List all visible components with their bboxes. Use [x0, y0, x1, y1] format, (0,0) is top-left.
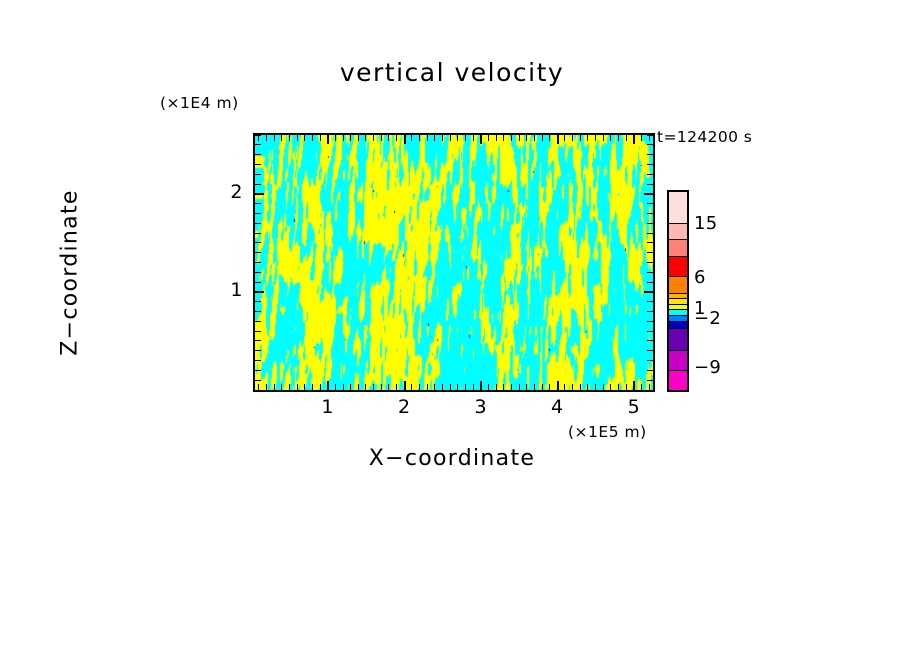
x-tick-label: 1 — [308, 396, 348, 418]
x-tick — [327, 135, 329, 144]
y-tick — [255, 252, 261, 253]
x-tick — [343, 135, 344, 141]
x-tick — [519, 135, 520, 141]
x-tick — [603, 384, 604, 390]
x-tick — [411, 135, 412, 141]
x-tick — [549, 384, 550, 390]
colorbar-band — [669, 192, 687, 224]
x-tick — [289, 135, 290, 141]
y-tick — [647, 144, 653, 145]
x-tick — [587, 135, 588, 141]
x-tick — [649, 384, 650, 390]
y-tick — [255, 272, 261, 273]
page-title: vertical velocity — [0, 58, 904, 87]
x-tick — [327, 381, 329, 390]
x-tick — [519, 384, 520, 390]
x-tick — [626, 384, 627, 390]
x-tick — [419, 135, 420, 141]
colorbar-tick-label: 15 — [694, 213, 718, 234]
colorbar-band — [669, 240, 687, 257]
y-tick — [644, 193, 653, 195]
y-tick-label: 1 — [203, 279, 243, 301]
x-tick — [258, 384, 259, 390]
colorbar-band — [669, 371, 687, 390]
x-tick — [450, 135, 451, 141]
y-tick — [647, 135, 653, 136]
y-tick — [255, 282, 261, 283]
y-tick — [647, 272, 653, 273]
x-tick — [542, 384, 543, 390]
x-tick — [304, 384, 305, 390]
x-tick — [404, 381, 406, 390]
x-tick — [572, 384, 573, 390]
x-tick — [457, 135, 458, 141]
x-tick — [312, 384, 313, 390]
x-tick — [358, 135, 359, 141]
y-tick — [255, 262, 261, 263]
x-tick — [365, 135, 366, 141]
x-tick — [381, 384, 382, 390]
x-tick — [480, 135, 482, 144]
x-tick — [595, 135, 596, 141]
y-tick — [647, 370, 653, 371]
x-tick — [312, 135, 313, 141]
y-tick — [647, 233, 653, 234]
x-tick-label: 4 — [537, 396, 577, 418]
x-tick — [480, 381, 482, 390]
vertical-velocity-field — [255, 135, 653, 390]
x-tick — [503, 135, 504, 141]
y-tick — [255, 350, 261, 351]
y-tick — [255, 233, 261, 234]
x-tick — [274, 384, 275, 390]
x-tick — [388, 384, 389, 390]
z-axis-units-label: (×1E4 m) — [160, 94, 239, 112]
colorbar-tick-label: 6 — [694, 267, 706, 288]
x-tick — [350, 384, 351, 390]
y-tick — [255, 213, 261, 214]
x-tick — [618, 384, 619, 390]
x-tick — [564, 384, 565, 390]
y-tick — [647, 340, 653, 341]
x-tick — [350, 135, 351, 141]
x-tick — [381, 135, 382, 141]
x-axis-units-label: (×1E5 m) — [568, 423, 647, 441]
x-tick — [534, 384, 535, 390]
colorbar-band — [669, 351, 687, 370]
y-tick — [255, 380, 261, 381]
x-tick — [496, 384, 497, 390]
colorbar-band — [669, 277, 687, 294]
y-tick — [647, 174, 653, 175]
x-tick — [297, 135, 298, 141]
x-tick — [457, 384, 458, 390]
x-tick — [320, 135, 321, 141]
y-axis-title: Z−coordinate — [58, 143, 83, 403]
y-tick — [647, 301, 653, 302]
x-tick — [434, 135, 435, 141]
x-tick — [289, 384, 290, 390]
x-tick-label: 3 — [461, 396, 501, 418]
x-tick — [373, 384, 374, 390]
x-tick — [542, 135, 543, 141]
y-tick — [644, 291, 653, 293]
x-tick — [564, 135, 565, 141]
x-tick — [580, 384, 581, 390]
y-tick — [647, 213, 653, 214]
y-tick — [255, 135, 261, 136]
x-tick — [626, 135, 627, 141]
x-axis-title: X−coordinate — [0, 446, 904, 471]
x-tick — [419, 384, 420, 390]
x-tick — [610, 135, 611, 141]
x-tick — [557, 135, 559, 144]
x-tick — [343, 384, 344, 390]
y-tick-label: 2 — [203, 181, 243, 203]
y-tick — [647, 321, 653, 322]
y-tick — [647, 282, 653, 283]
x-tick — [618, 135, 619, 141]
y-tick — [255, 331, 261, 332]
y-tick — [647, 262, 653, 263]
y-tick — [255, 164, 261, 165]
y-tick — [255, 242, 261, 243]
y-tick — [255, 360, 261, 361]
x-tick — [526, 384, 527, 390]
y-tick — [647, 203, 653, 204]
x-tick — [266, 384, 267, 390]
y-tick — [255, 311, 261, 312]
x-tick — [587, 384, 588, 390]
x-tick — [411, 384, 412, 390]
x-tick — [641, 135, 642, 141]
x-tick — [511, 384, 512, 390]
x-tick — [434, 384, 435, 390]
x-tick — [473, 135, 474, 141]
x-tick — [549, 135, 550, 141]
y-tick — [647, 331, 653, 332]
y-tick — [647, 350, 653, 351]
y-tick — [255, 370, 261, 371]
x-tick — [503, 384, 504, 390]
x-tick — [488, 384, 489, 390]
y-tick — [255, 291, 264, 293]
colorbar[interactable] — [667, 190, 689, 392]
y-tick — [255, 321, 261, 322]
x-tick — [526, 135, 527, 141]
x-tick — [335, 135, 336, 141]
x-tick-label: 5 — [614, 396, 654, 418]
contour-plot-area[interactable] — [253, 133, 655, 392]
x-tick — [388, 135, 389, 141]
y-tick — [647, 311, 653, 312]
x-tick — [281, 135, 282, 141]
x-tick — [404, 135, 406, 144]
x-tick — [488, 135, 489, 141]
x-tick — [442, 135, 443, 141]
y-tick — [647, 242, 653, 243]
y-tick — [255, 193, 264, 195]
x-tick — [465, 384, 466, 390]
x-tick — [297, 384, 298, 390]
y-tick — [647, 154, 653, 155]
y-tick — [255, 223, 261, 224]
x-tick — [396, 384, 397, 390]
y-tick — [255, 340, 261, 341]
y-tick — [255, 301, 261, 302]
x-tick — [633, 135, 635, 144]
x-tick — [427, 135, 428, 141]
x-tick — [358, 384, 359, 390]
colorbar-band — [669, 224, 687, 240]
x-tick — [465, 135, 466, 141]
colorbar-tick-label: −9 — [694, 357, 721, 378]
y-tick — [647, 380, 653, 381]
y-tick — [647, 164, 653, 165]
x-tick — [557, 381, 559, 390]
x-tick — [442, 384, 443, 390]
y-tick — [647, 223, 653, 224]
x-tick — [580, 135, 581, 141]
x-tick — [473, 384, 474, 390]
x-tick — [335, 384, 336, 390]
x-tick — [496, 135, 497, 141]
x-tick — [641, 384, 642, 390]
x-tick — [534, 135, 535, 141]
y-tick — [647, 360, 653, 361]
colorbar-band — [669, 257, 687, 277]
x-tick — [396, 135, 397, 141]
x-tick — [427, 384, 428, 390]
x-tick — [365, 384, 366, 390]
y-tick — [255, 144, 261, 145]
x-tick — [595, 384, 596, 390]
x-tick-label: 2 — [384, 396, 424, 418]
x-tick — [320, 384, 321, 390]
x-tick — [304, 135, 305, 141]
y-tick — [255, 174, 261, 175]
timestamp-label: t=124200 s — [657, 128, 752, 146]
x-tick — [274, 135, 275, 141]
y-tick — [255, 203, 261, 204]
y-tick — [647, 184, 653, 185]
x-tick — [450, 384, 451, 390]
x-tick — [511, 135, 512, 141]
colorbar-tick-label: −2 — [694, 308, 721, 329]
x-tick — [266, 135, 267, 141]
y-tick — [255, 184, 261, 185]
y-tick — [255, 154, 261, 155]
x-tick — [633, 381, 635, 390]
y-tick — [647, 252, 653, 253]
colorbar-band — [669, 322, 687, 329]
x-tick — [610, 384, 611, 390]
x-tick — [572, 135, 573, 141]
colorbar-band — [669, 329, 687, 351]
x-tick — [373, 135, 374, 141]
x-tick — [281, 384, 282, 390]
x-tick — [603, 135, 604, 141]
